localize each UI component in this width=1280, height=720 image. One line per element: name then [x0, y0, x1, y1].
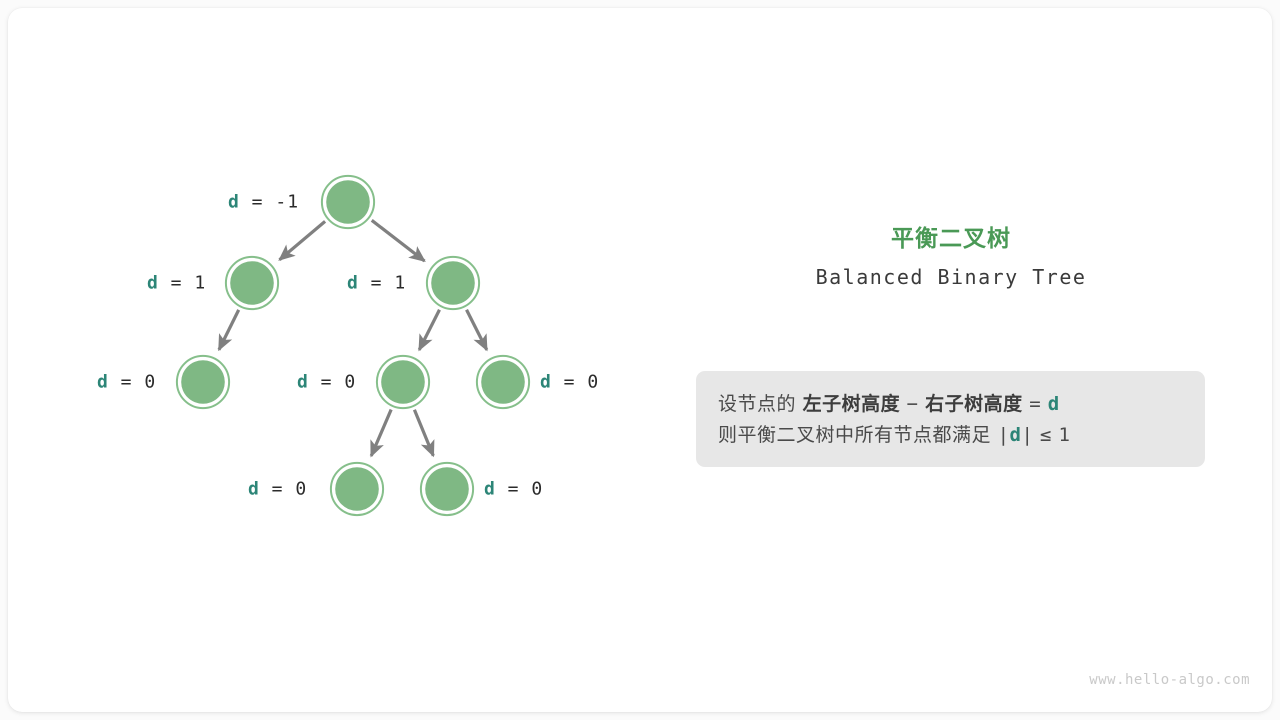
- node-label-value: 1: [394, 273, 406, 294]
- node-label-equals: =: [309, 372, 345, 393]
- definition-box: 设节点的 左子树高度 − 右子树高度 = d 则平衡二叉树中所有节点都满足 |d…: [696, 371, 1205, 467]
- minus-sign: −: [907, 393, 919, 415]
- node-label-equals: =: [496, 479, 532, 500]
- tree-node[interactable]: [421, 463, 473, 515]
- bound-value: 1: [1058, 424, 1070, 446]
- tree-node[interactable]: [427, 257, 479, 309]
- tree-edges: [219, 220, 487, 456]
- d-symbol: d: [1048, 393, 1060, 415]
- node-label-d: d: [484, 479, 496, 500]
- node-balance-label: d = 0: [297, 372, 356, 393]
- node-balance-label: d = 0: [248, 479, 307, 500]
- node-label-equals: =: [359, 273, 395, 294]
- node-fill: [181, 360, 225, 404]
- tree-node[interactable]: [477, 356, 529, 408]
- definition-prefix: 设节点的: [718, 393, 796, 415]
- node-balance-label: d = 0: [97, 372, 156, 393]
- node-label-value: 0: [344, 372, 356, 393]
- node-fill: [481, 360, 525, 404]
- node-label-value: 0: [587, 372, 599, 393]
- abs-bar-close: |: [1021, 424, 1033, 446]
- tree-node[interactable]: [322, 176, 374, 228]
- less-equal-sign: ≤: [1040, 424, 1052, 446]
- diagram-page: d = -1d = 1d = 1d = 0d = 0d = 0d = 0d = …: [0, 0, 1280, 720]
- definition-line-2: 则平衡二叉树中所有节点都满足 |d| ≤ 1: [718, 420, 1205, 451]
- definition-line-1: 设节点的 左子树高度 − 右子树高度 = d: [718, 389, 1205, 420]
- node-fill: [425, 467, 469, 511]
- node-label-equals: =: [552, 372, 588, 393]
- node-fill: [230, 261, 274, 305]
- node-label-d: d: [297, 372, 309, 393]
- node-label-d: d: [248, 479, 260, 500]
- tree-edge: [371, 410, 391, 456]
- tree-node[interactable]: [226, 257, 278, 309]
- node-label-equals: =: [260, 479, 296, 500]
- node-balance-label: d = -1: [228, 192, 299, 213]
- info-panel: 平衡二叉树 Balanced Binary Tree: [696, 225, 1206, 289]
- tree-edge: [419, 310, 439, 350]
- condition-prefix: 则平衡二叉树中所有节点都满足: [718, 424, 991, 446]
- node-balance-label: d = 1: [347, 273, 406, 294]
- tree-node[interactable]: [377, 356, 429, 408]
- node-balance-label: d = 1: [147, 273, 206, 294]
- node-label-value: 1: [194, 273, 206, 294]
- tree-node[interactable]: [177, 356, 229, 408]
- node-label-d: d: [147, 273, 159, 294]
- node-label-d: d: [540, 372, 552, 393]
- panel-subtitle: Balanced Binary Tree: [696, 265, 1206, 289]
- left-subtree-height-term: 左子树高度: [803, 393, 901, 415]
- tree-edge: [280, 221, 326, 259]
- node-balance-label: d = 0: [484, 479, 543, 500]
- node-fill: [381, 360, 425, 404]
- node-label-value: 0: [144, 372, 156, 393]
- tree-edge: [414, 410, 433, 456]
- node-label-d: d: [228, 192, 240, 213]
- node-fill: [431, 261, 475, 305]
- node-fill: [326, 180, 370, 224]
- d-symbol-abs: d: [1010, 424, 1022, 446]
- tree-nodes: [177, 176, 529, 515]
- node-label-d: d: [97, 372, 109, 393]
- node-label-d: d: [347, 273, 359, 294]
- tree-node[interactable]: [331, 463, 383, 515]
- node-label-equals: =: [159, 273, 195, 294]
- right-subtree-height-term: 右子树高度: [925, 393, 1023, 415]
- node-label-equals: =: [240, 192, 276, 213]
- equals-sign: =: [1029, 393, 1041, 415]
- node-label-value: 0: [531, 479, 543, 500]
- binary-tree-graphic: [0, 0, 1280, 720]
- tree-edge: [467, 310, 487, 350]
- node-label-value: -1: [275, 192, 299, 213]
- node-label-equals: =: [109, 372, 145, 393]
- node-balance-label: d = 0: [540, 372, 599, 393]
- watermark: www.hello-algo.com: [1089, 672, 1250, 688]
- tree-edge: [372, 220, 425, 261]
- node-fill: [335, 467, 379, 511]
- abs-bar-open: |: [998, 424, 1010, 446]
- node-label-value: 0: [295, 479, 307, 500]
- tree-edge: [219, 310, 239, 350]
- panel-title: 平衡二叉树: [696, 225, 1206, 255]
